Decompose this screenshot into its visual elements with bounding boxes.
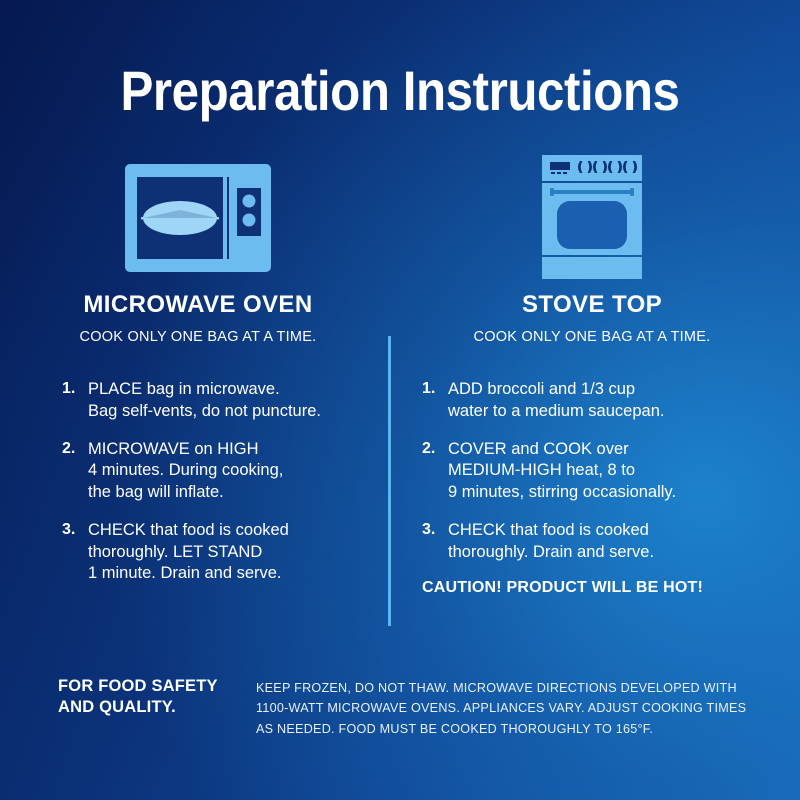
instruction-column-microwave: MICROWAVE OVEN COOK ONLY ONE BAG AT A TI… <box>18 150 378 601</box>
column-divider <box>388 336 391 626</box>
microwave-oven-icon <box>123 162 273 274</box>
caution-notice: CAUTION! PRODUCT WILL BE HOT! <box>412 579 772 597</box>
stove-range-icon-wrap <box>412 150 772 285</box>
step-number: 2. <box>422 439 448 504</box>
microwave-oven-icon-wrap <box>18 150 378 285</box>
step-item: 2. COVER and COOK over MEDIUM-HIGH heat,… <box>422 439 772 504</box>
steps-list-microwave: 1. PLACE bag in microwave. Bag self-vent… <box>18 379 378 585</box>
steps-list-stove: 1. ADD broccoli and 1/3 cup water to a m… <box>412 379 772 563</box>
column-subheading-stove: COOK ONLY ONE BAG AT A TIME. <box>412 329 772 345</box>
step-text: MICROWAVE on HIGH 4 minutes. During cook… <box>88 439 283 504</box>
step-item: 3. CHECK that food is cooked thoroughly.… <box>62 520 378 585</box>
step-text: COVER and COOK over MEDIUM-HIGH heat, 8 … <box>448 439 676 504</box>
column-subheading-microwave: COOK ONLY ONE BAG AT A TIME. <box>18 329 378 345</box>
step-number: 3. <box>62 520 88 585</box>
footer: FOR FOOD SAFETY AND QUALITY. KEEP FROZEN… <box>58 676 758 739</box>
step-number: 1. <box>62 379 88 423</box>
column-heading-stove: STOVE TOP <box>412 291 772 319</box>
step-item: 2. MICROWAVE on HIGH 4 minutes. During c… <box>62 439 378 504</box>
step-text: CHECK that food is cooked thoroughly. LE… <box>88 520 289 585</box>
footer-label: FOR FOOD SAFETY AND QUALITY. <box>58 676 256 718</box>
step-number: 3. <box>422 520 448 564</box>
step-text: PLACE bag in microwave. Bag self-vents, … <box>88 379 321 423</box>
step-text: ADD broccoli and 1/3 cup water to a medi… <box>448 379 664 423</box>
footer-note: KEEP FROZEN, DO NOT THAW. MICROWAVE DIRE… <box>256 676 746 739</box>
step-item: 1. PLACE bag in microwave. Bag self-vent… <box>62 379 378 423</box>
preparation-instructions-panel: Preparation Instructions MIC <box>0 0 800 800</box>
step-item: 1. ADD broccoli and 1/3 cup water to a m… <box>422 379 772 423</box>
step-number: 2. <box>62 439 88 504</box>
step-item: 3. CHECK that food is cooked thoroughly.… <box>422 520 772 564</box>
page-title: Preparation Instructions <box>48 58 752 123</box>
column-heading-microwave: MICROWAVE OVEN <box>18 291 378 319</box>
instruction-column-stove: STOVE TOP COOK ONLY ONE BAG AT A TIME. 1… <box>412 150 772 597</box>
stove-range-icon <box>532 153 652 283</box>
step-text: CHECK that food is cooked thoroughly. Dr… <box>448 520 654 564</box>
step-number: 1. <box>422 379 448 423</box>
